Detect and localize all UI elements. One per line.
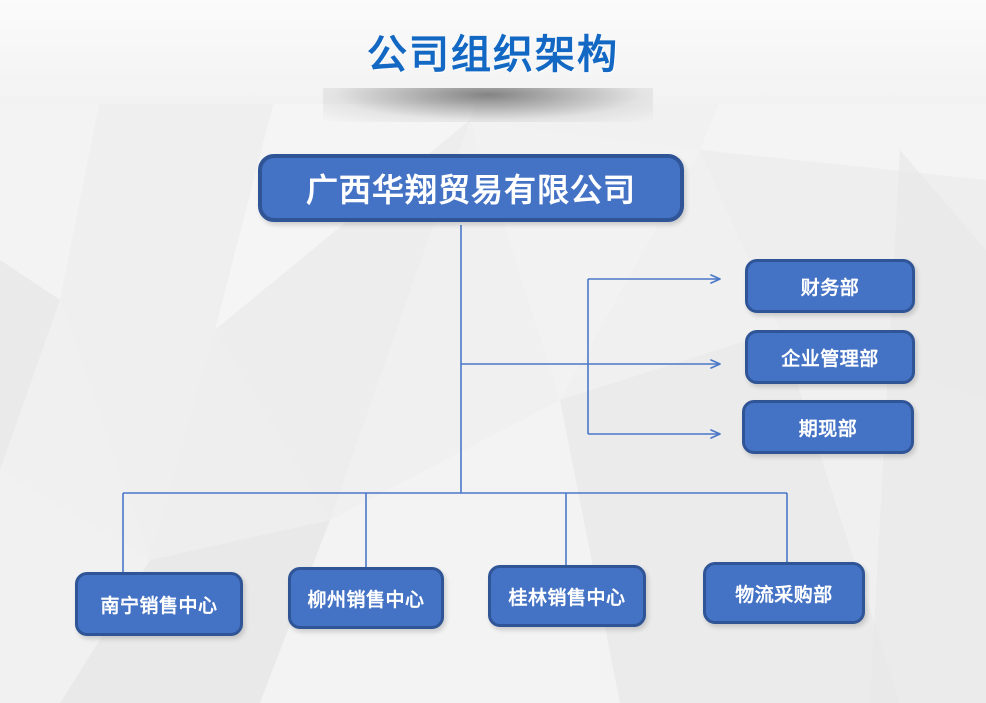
node-unit-nanning[interactable]: 南宁销售中心 bbox=[75, 572, 243, 636]
node-unit-guilin[interactable]: 桂林销售中心 bbox=[488, 565, 646, 627]
node-department-futures[interactable]: 期现部 bbox=[742, 400, 914, 454]
node-department-finance[interactable]: 财务部 bbox=[745, 259, 915, 313]
node-unit-logistics[interactable]: 物流采购部 bbox=[703, 562, 865, 624]
node-department-futures-label: 期现部 bbox=[799, 414, 858, 441]
node-unit-nanning-label: 南宁销售中心 bbox=[100, 591, 217, 618]
node-department-management[interactable]: 企业管理部 bbox=[745, 330, 915, 384]
page-title: 公司组织架构 bbox=[0, 22, 986, 80]
org-chart-slide: 公司组织架构 广西华翔贸易有限公司 bbox=[0, 0, 986, 703]
node-department-management-label: 企业管理部 bbox=[781, 344, 879, 371]
node-root-company[interactable]: 广西华翔贸易有限公司 bbox=[258, 154, 684, 222]
node-department-finance-label: 财务部 bbox=[801, 273, 860, 300]
node-unit-logistics-label: 物流采购部 bbox=[735, 580, 833, 607]
node-root-company-label: 广西华翔贸易有限公司 bbox=[306, 165, 636, 211]
node-unit-liuzhou-label: 柳州销售中心 bbox=[307, 585, 424, 612]
node-unit-liuzhou[interactable]: 柳州销售中心 bbox=[288, 567, 444, 629]
node-unit-guilin-label: 桂林销售中心 bbox=[508, 583, 625, 610]
